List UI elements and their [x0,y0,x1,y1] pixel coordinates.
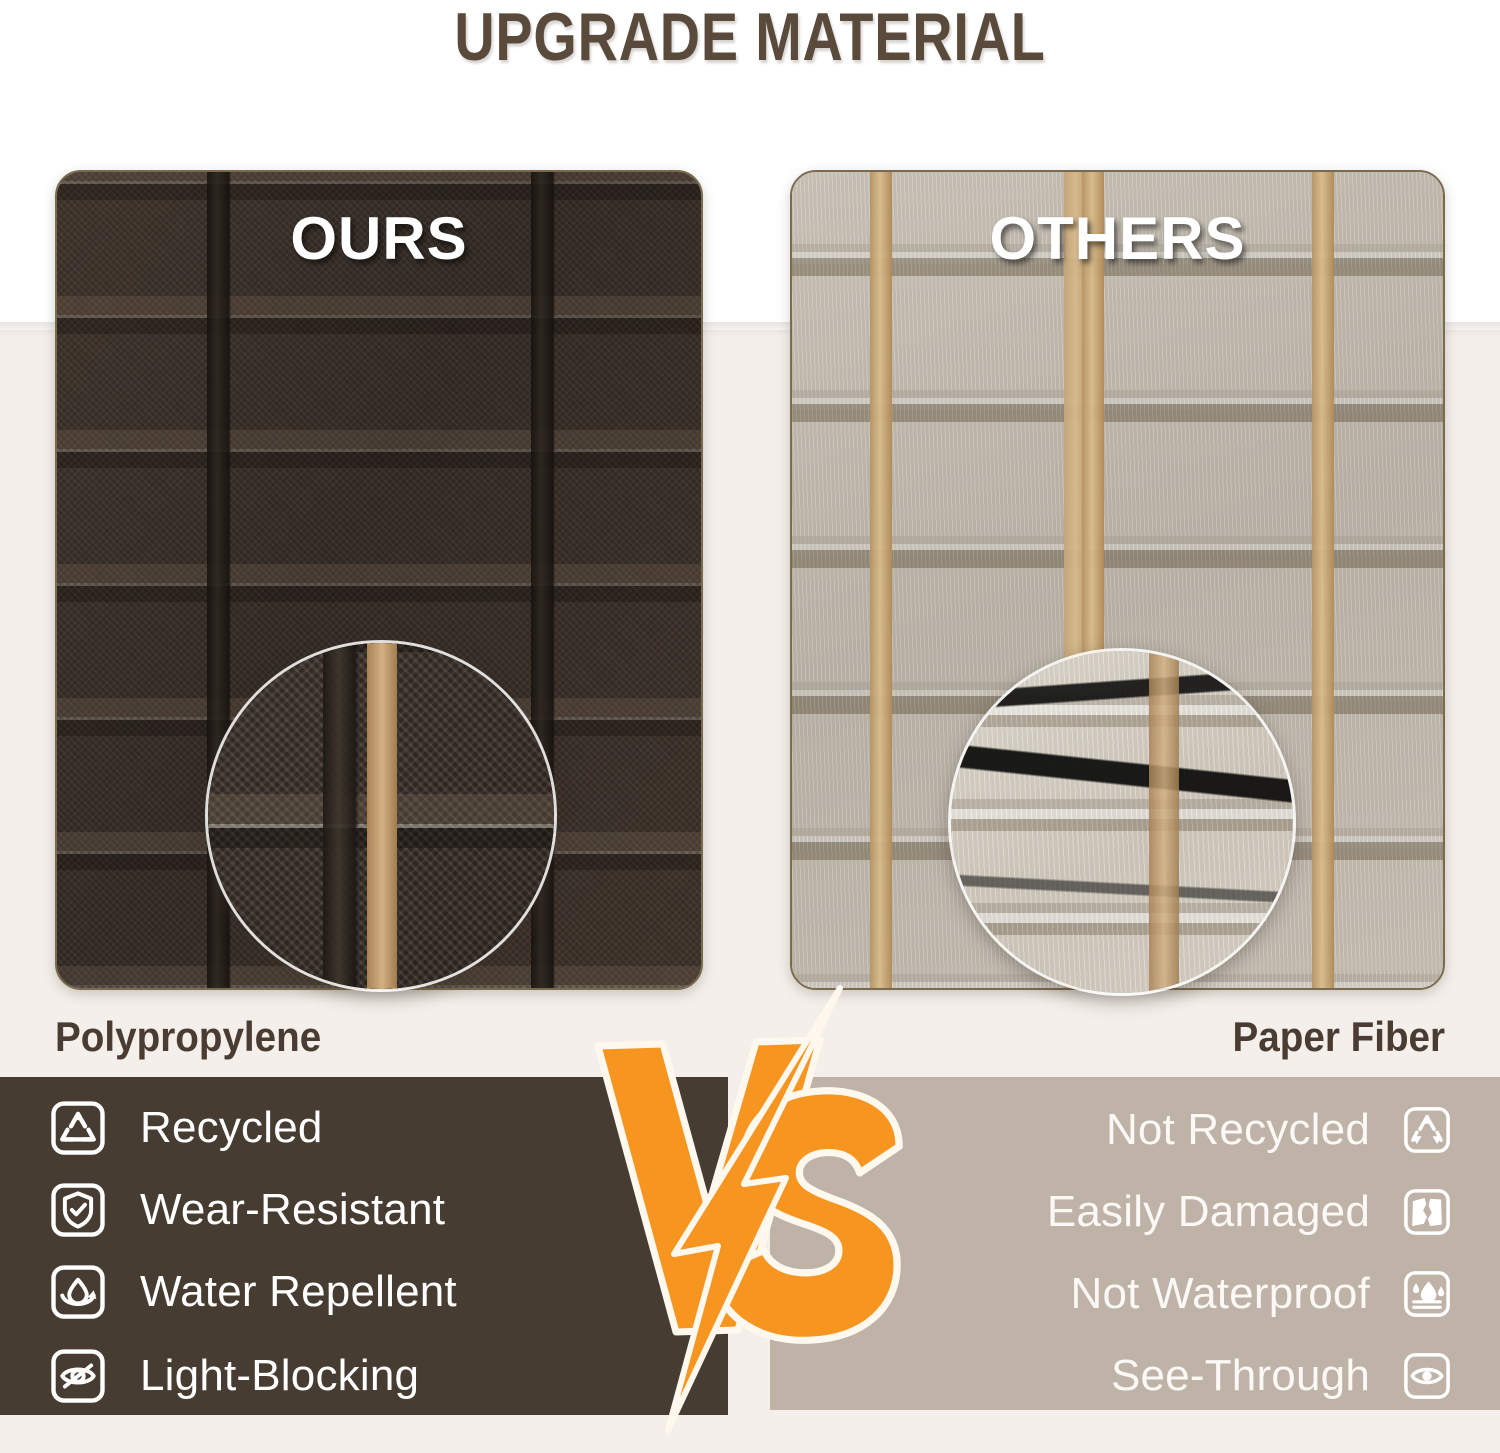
feature-label: See-Through [1111,1351,1370,1401]
vs-badge [568,978,938,1438]
feature-label: Not Waterproof [1071,1269,1371,1319]
ours-panel-label: OURS [57,204,701,273]
eye-off-icon [50,1348,106,1404]
feature-label: Water Repellent [140,1267,457,1317]
feature-label: Light-Blocking [140,1351,419,1401]
feature-row-water-repellent: Water Repellent [50,1261,457,1323]
ours-magnifier-circle [205,640,557,992]
feature-label: Recycled [140,1103,323,1153]
torn-paper-icon [1402,1187,1452,1237]
feature-row-wear-resistant: Wear-Resistant [50,1179,445,1241]
others-panel-label: OTHERS [792,204,1443,273]
others-magnifier-circle [948,648,1296,996]
shield-check-icon [50,1182,106,1238]
water-absorb-icon [1402,1269,1452,1319]
paper-core-strip [870,172,892,988]
eye-icon [1402,1351,1452,1401]
feature-label: Easily Damaged [1047,1187,1370,1237]
feature-row-see-through: See-Through [1111,1345,1452,1407]
others-material-caption: Paper Fiber [1232,1013,1445,1061]
water-repellent-icon [50,1264,106,1320]
feature-label: Wear-Resistant [140,1185,445,1235]
paper-core-strip [1312,172,1334,988]
feature-row-not-recycled: Not Recycled [1106,1099,1452,1161]
page-title: UPGRADE MATERIAL [135,2,1365,73]
recycle-icon [50,1100,106,1156]
feature-label: Not Recycled [1106,1105,1370,1155]
infographic-root: UPGRADE MATERIAL OURS OTHERS Polypropyle… [0,0,1500,1453]
ours-material-caption: Polypropylene [55,1013,321,1061]
others-magnified-core [1149,651,1179,993]
feature-row-light-blocking: Light-Blocking [50,1345,419,1407]
ours-magnified-core [367,643,397,989]
no-recycle-icon [1402,1105,1452,1155]
feature-row-recycled: Recycled [50,1097,323,1159]
vs-letters [598,988,899,1430]
feature-row-easily-damaged: Easily Damaged [1047,1181,1452,1243]
others-magnified-texture [948,648,1296,996]
feature-row-not-waterproof: Not Waterproof [1071,1263,1453,1325]
